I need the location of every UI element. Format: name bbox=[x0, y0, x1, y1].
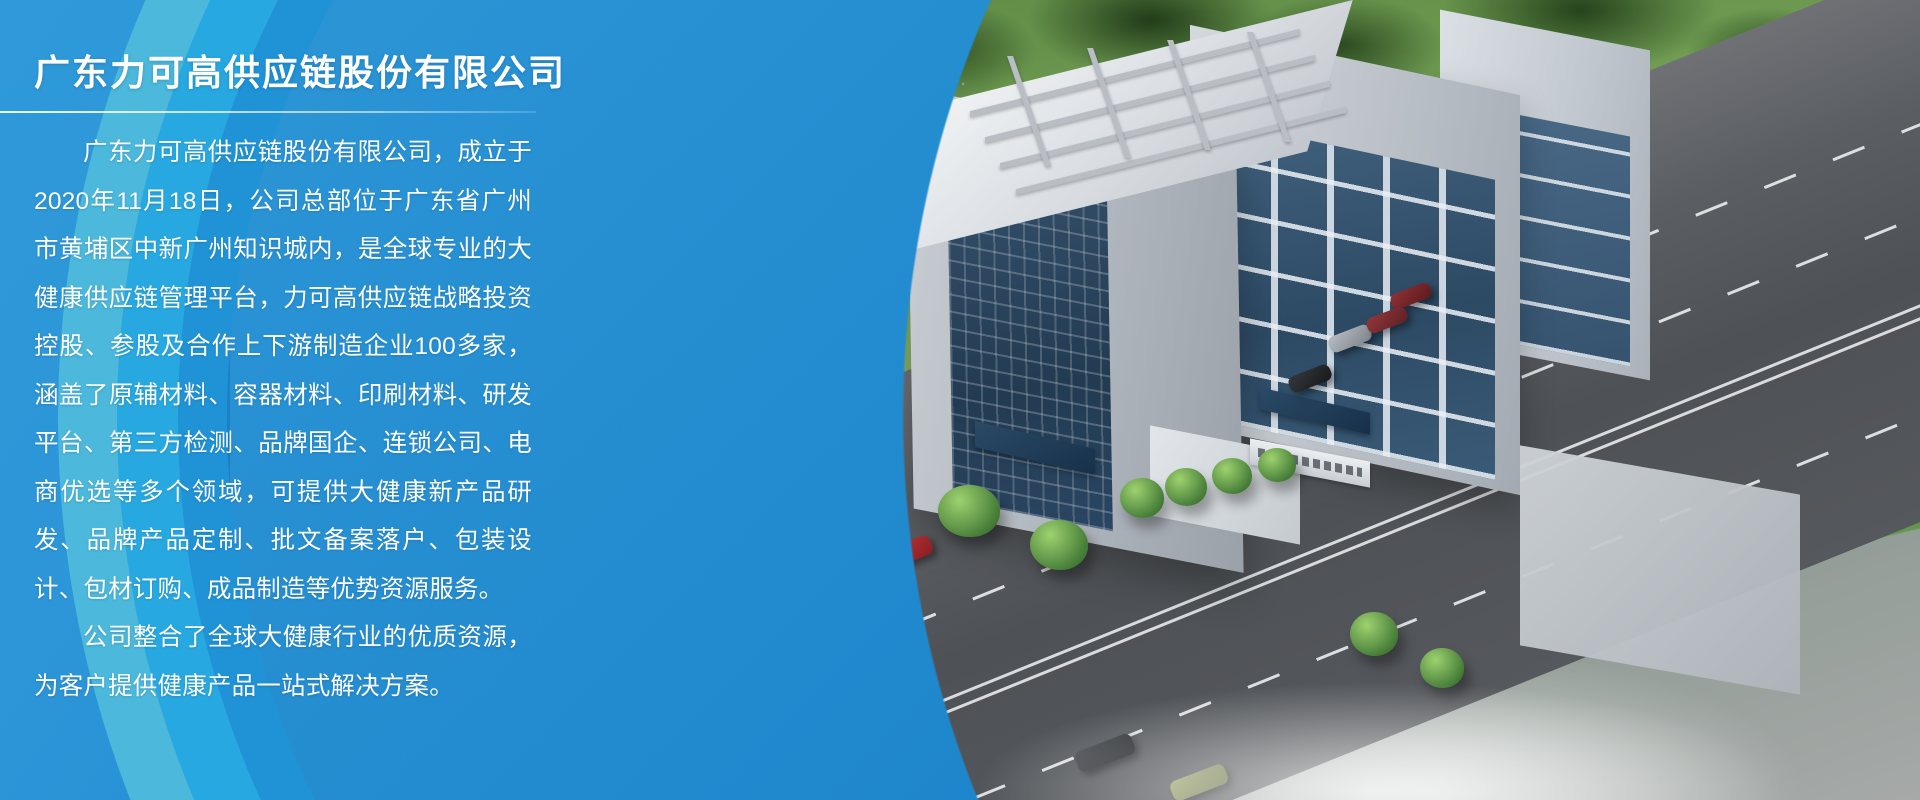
photo-base bbox=[820, 0, 1920, 800]
street-tree bbox=[1420, 648, 1464, 688]
intro-body: 广东力可高供应链股份有限公司，成立于2020年11月18日，公司总部位于广东省广… bbox=[34, 129, 532, 711]
street-tree bbox=[938, 485, 1000, 537]
street-tree bbox=[1350, 612, 1398, 656]
campus-aerial-photo bbox=[820, 0, 1920, 800]
street-tree bbox=[1212, 458, 1252, 494]
street-tree bbox=[1258, 448, 1296, 482]
intro-text-column: 广东力可高供应链股份有限公司 广东力可高供应链股份有限公司，成立于2020年11… bbox=[0, 0, 560, 800]
intro-paragraph-2: 公司整合了全球大健康行业的优质资源，为客户提供健康产品一站式解决方案。 bbox=[34, 614, 532, 711]
page-title: 广东力可高供应链股份有限公司 bbox=[34, 0, 532, 95]
street-tree bbox=[1030, 520, 1088, 570]
company-intro-banner: 广东力可高供应链股份有限公司 广东力可高供应链股份有限公司，成立于2020年11… bbox=[0, 0, 1920, 800]
street-tree bbox=[1165, 468, 1207, 506]
title-divider bbox=[0, 111, 536, 113]
intro-paragraph-1: 广东力可高供应链股份有限公司，成立于2020年11月18日，公司总部位于广东省广… bbox=[34, 129, 532, 614]
street-tree bbox=[1120, 478, 1164, 518]
